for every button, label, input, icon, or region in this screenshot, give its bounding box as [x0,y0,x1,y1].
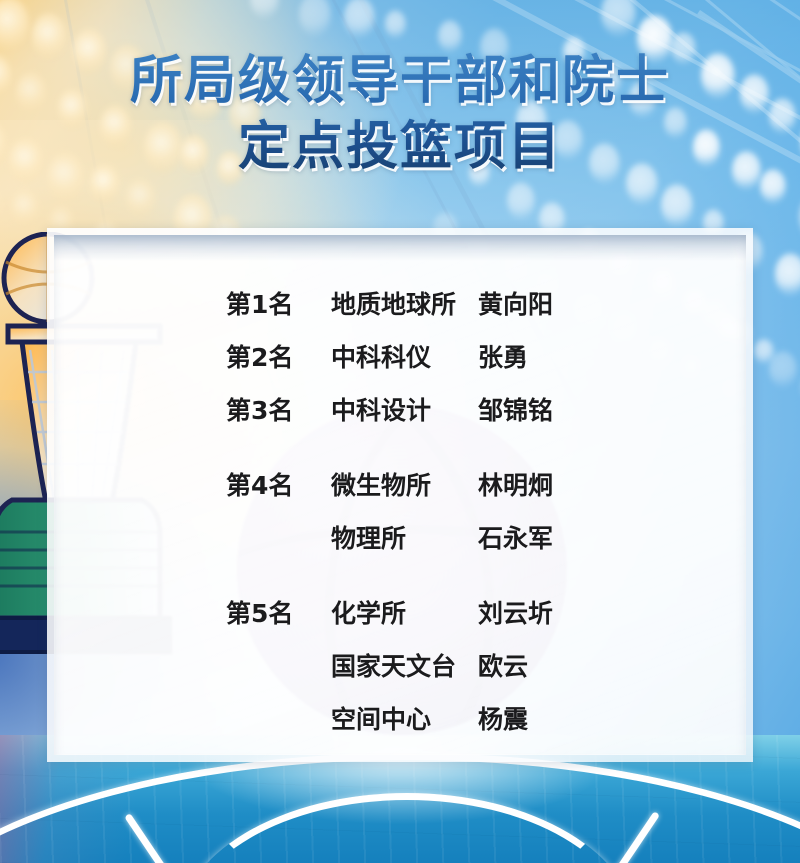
institute-label: 空间中心 [331,705,431,735]
person-name-label: 林明炯 [478,471,553,501]
poster-root: 所局级领导干部和院士 定点投篮项目 第1名地质地球所黄向阳第2名中科科仪张勇第3… [0,0,800,863]
ranking-row: 第4名微生物所林明炯 [54,471,746,501]
institute-label: 中科设计 [331,396,431,426]
institute-label: 物理所 [331,524,406,554]
person-name-label: 刘云圻 [478,599,553,629]
ranking-row: 空间中心杨震 [54,705,746,735]
person-name-label: 邹锦铭 [478,396,553,426]
institute-label: 微生物所 [331,471,431,501]
ranking-row: 物理所石永军 [54,524,746,554]
ranking-row: 国家天文台欧云 [54,652,746,682]
ranking-row: 第1名地质地球所黄向阳 [54,290,746,320]
title-line-1: 所局级领导干部和院士 [0,48,800,114]
rank-label: 第3名 [226,396,293,426]
rank-label: 第5名 [226,599,293,629]
rank-label: 第2名 [226,343,293,373]
institute-label: 中科科仪 [331,343,431,373]
person-name-label: 黄向阳 [478,290,553,320]
rank-label: 第1名 [226,290,293,320]
ranking-row: 第3名中科设计邹锦铭 [54,396,746,426]
person-name-label: 张勇 [478,343,528,373]
title-line-2: 定点投篮项目 [0,114,800,180]
rank-label: 第4名 [226,471,293,501]
ranking-row: 第2名中科科仪张勇 [54,343,746,373]
person-name-label: 石永军 [478,524,553,554]
person-name-label: 杨震 [478,705,528,735]
page-title: 所局级领导干部和院士 定点投篮项目 [0,48,800,180]
institute-label: 化学所 [331,599,406,629]
ranking-list: 第1名地质地球所黄向阳第2名中科科仪张勇第3名中科设计邹锦铭第4名微生物所林明炯… [54,235,746,755]
ranking-row: 第5名化学所刘云圻 [54,599,746,629]
institute-label: 地质地球所 [331,290,456,320]
institute-label: 国家天文台 [331,652,456,682]
person-name-label: 欧云 [478,652,528,682]
